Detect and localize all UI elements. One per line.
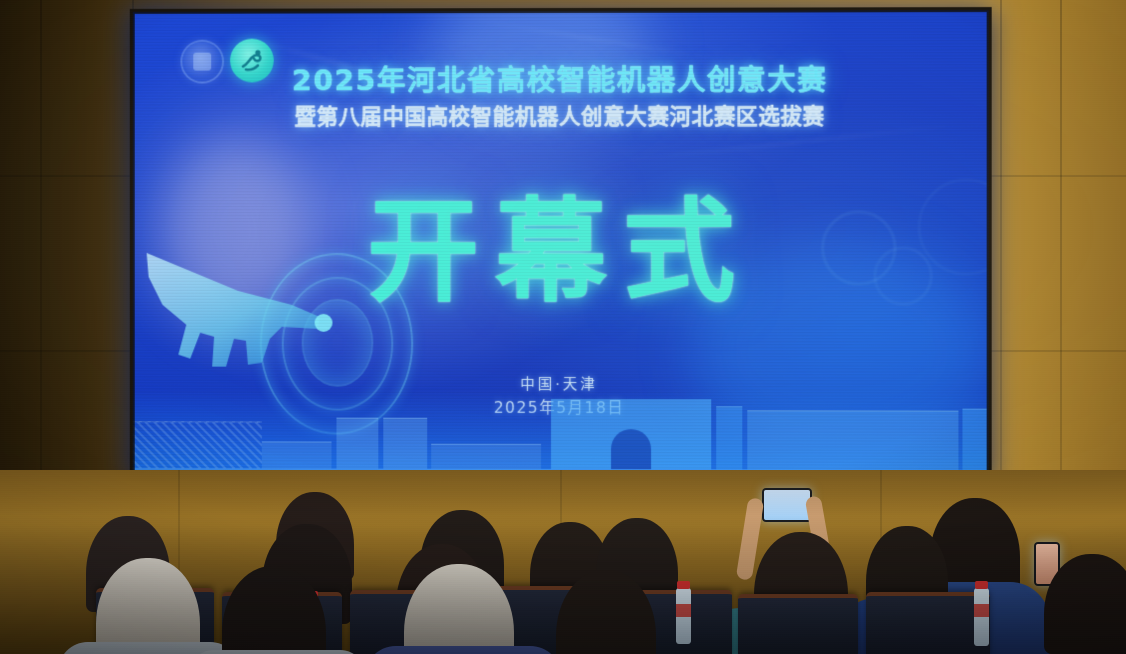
city-skyline-silhouette bbox=[133, 390, 989, 478]
water-bottle bbox=[676, 588, 691, 644]
bottle-label bbox=[676, 604, 691, 617]
bottle-cap bbox=[677, 581, 690, 589]
seat-back bbox=[866, 592, 990, 654]
ponytail-torso bbox=[188, 650, 366, 654]
navy-shirt-torso bbox=[364, 646, 562, 654]
bottle-label bbox=[974, 604, 989, 617]
led-presentation-screen: 2025年河北省高校智能机器人创意大赛 暨第八届中国高校智能机器人创意大赛河北赛… bbox=[133, 10, 989, 478]
phone-screen bbox=[764, 490, 810, 520]
headline-line-1: 2025年河北省高校智能机器人创意大赛 bbox=[133, 66, 989, 96]
bottle-cap bbox=[975, 581, 988, 589]
headline-line-2: 暨第八届中国高校智能机器人创意大赛河北赛区选拔赛 bbox=[133, 106, 989, 129]
auditorium-scene: 2025年河北省高校智能机器人创意大赛 暨第八届中国高校智能机器人创意大赛河北赛… bbox=[0, 0, 1126, 654]
slide-main-title: 开幕式 bbox=[133, 193, 989, 314]
smartphone-recording[interactable] bbox=[762, 488, 812, 522]
audience-area bbox=[0, 470, 1126, 654]
water-bottle bbox=[974, 588, 989, 646]
seat-back bbox=[738, 594, 858, 654]
slide-headline-block: 2025年河北省高校智能机器人创意大赛 暨第八届中国高校智能机器人创意大赛河北赛… bbox=[133, 66, 989, 128]
